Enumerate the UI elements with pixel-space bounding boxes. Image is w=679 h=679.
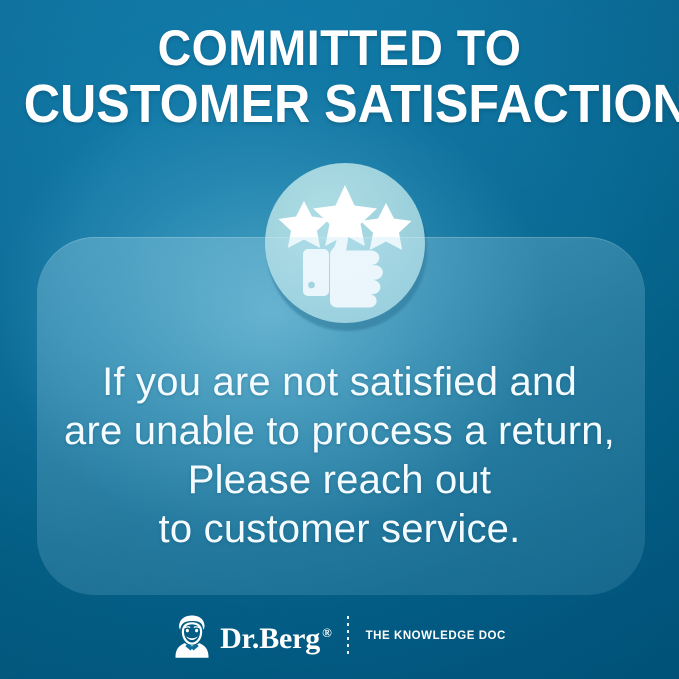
message-line-2: are unable to process a return, (0, 407, 679, 456)
footer-divider (347, 616, 349, 656)
brand-footer: Dr.Berg® THE KNOWLEDGE DOC (0, 612, 679, 660)
registered-mark: ® (322, 625, 332, 640)
message-line-1: If you are not satisfied and (0, 358, 679, 407)
message-line-4: to customer service. (0, 505, 679, 554)
brand-tagline: THE KNOWLEDGE DOC (366, 630, 506, 642)
brand-name: Dr.Berg (220, 622, 320, 655)
brand-wordmark: Dr.Berg® (220, 618, 331, 654)
message-text: If you are not satisfied and are unable … (0, 358, 679, 554)
headline-line-1: COMMITTED TO (24, 20, 655, 76)
poster-canvas: COMMITTED TO CUSTOMER SATISFACTION (0, 0, 679, 679)
dr-berg-portrait-icon (173, 614, 211, 658)
message-line-3: Please reach out (0, 456, 679, 505)
headline-line-2: CUSTOMER SATISFACTION (24, 76, 655, 132)
headline: COMMITTED TO CUSTOMER SATISFACTION (24, 20, 655, 132)
